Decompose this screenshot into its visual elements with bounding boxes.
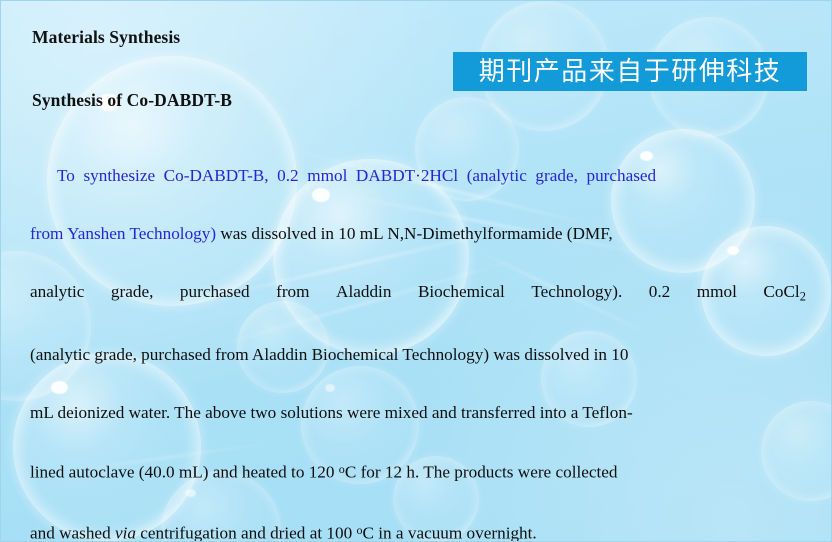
paragraph-line: analyticgrade,purchasedfromAladdinBioche… [30,263,806,326]
line-7-post: C in a vacuum overnight. [363,523,537,542]
paragraph-line: (analytic grade, purchased from Aladdin … [30,326,806,384]
italic-via: via [115,523,136,542]
page-title: Materials Synthesis [32,27,180,48]
line-3-word: purchased [180,263,250,326]
line-3-word: Aladdin [336,263,391,326]
paragraph-line: lined autoclave (40.0 mL) and heated to … [30,441,806,501]
line-3-word: 0.2 [649,263,670,326]
watermark-banner: 期刊产品来自于研伸科技 [453,52,807,91]
line-7-pre-italic: and washed [30,523,115,542]
watermark-banner-text: 期刊产品来自于研伸科技 [479,59,782,85]
line-2-blue-text: from Yanshen Technology) [30,224,216,243]
line-6-post-temperature: C for 12 h. The products were collected [345,463,618,482]
line-3-formula: CoCl2 [763,263,805,326]
paragraph-line: To synthesize Co-DABDT-B, 0.2 mmol DABDT… [30,147,806,205]
subscript-two: 2 [800,289,806,303]
line-6-pre-temperature: lined autoclave (40.0 mL) and heated to … [30,463,339,482]
line-3-word: Technology). [531,263,622,326]
line-4-text: (analytic grade, purchased from Aladdin … [30,345,628,364]
line-3-word: analytic [30,263,84,326]
paragraph-line: and washed via centrifugation and dried … [30,502,806,542]
line-5-text: mL deionized water. The above two soluti… [30,403,633,422]
paragraph-line: from Yanshen Technology) was dissolved i… [30,205,806,263]
paragraph-line: mL deionized water. The above two soluti… [30,384,806,442]
line-3-word: mmol [697,263,737,326]
body-paragraph: To synthesize Co-DABDT-B, 0.2 mmol DABDT… [30,147,806,542]
line-7-mid: centrifugation and dried at 100 [136,523,357,542]
line-2-black-text: was dissolved in 10 mL N,N-Dimethylforma… [216,224,613,243]
section-heading: Synthesis of Co-DABDT-B [32,90,232,111]
line-3-word: grade, [111,263,153,326]
line-3-word: Biochemical [418,263,505,326]
line-3-word: from [276,263,309,326]
line-1-indent-and-text: To synthesize Co-DABDT-B, 0.2 mmol DABDT… [30,147,656,205]
slide-page: Materials Synthesis Synthesis of Co-DABD… [0,0,832,542]
